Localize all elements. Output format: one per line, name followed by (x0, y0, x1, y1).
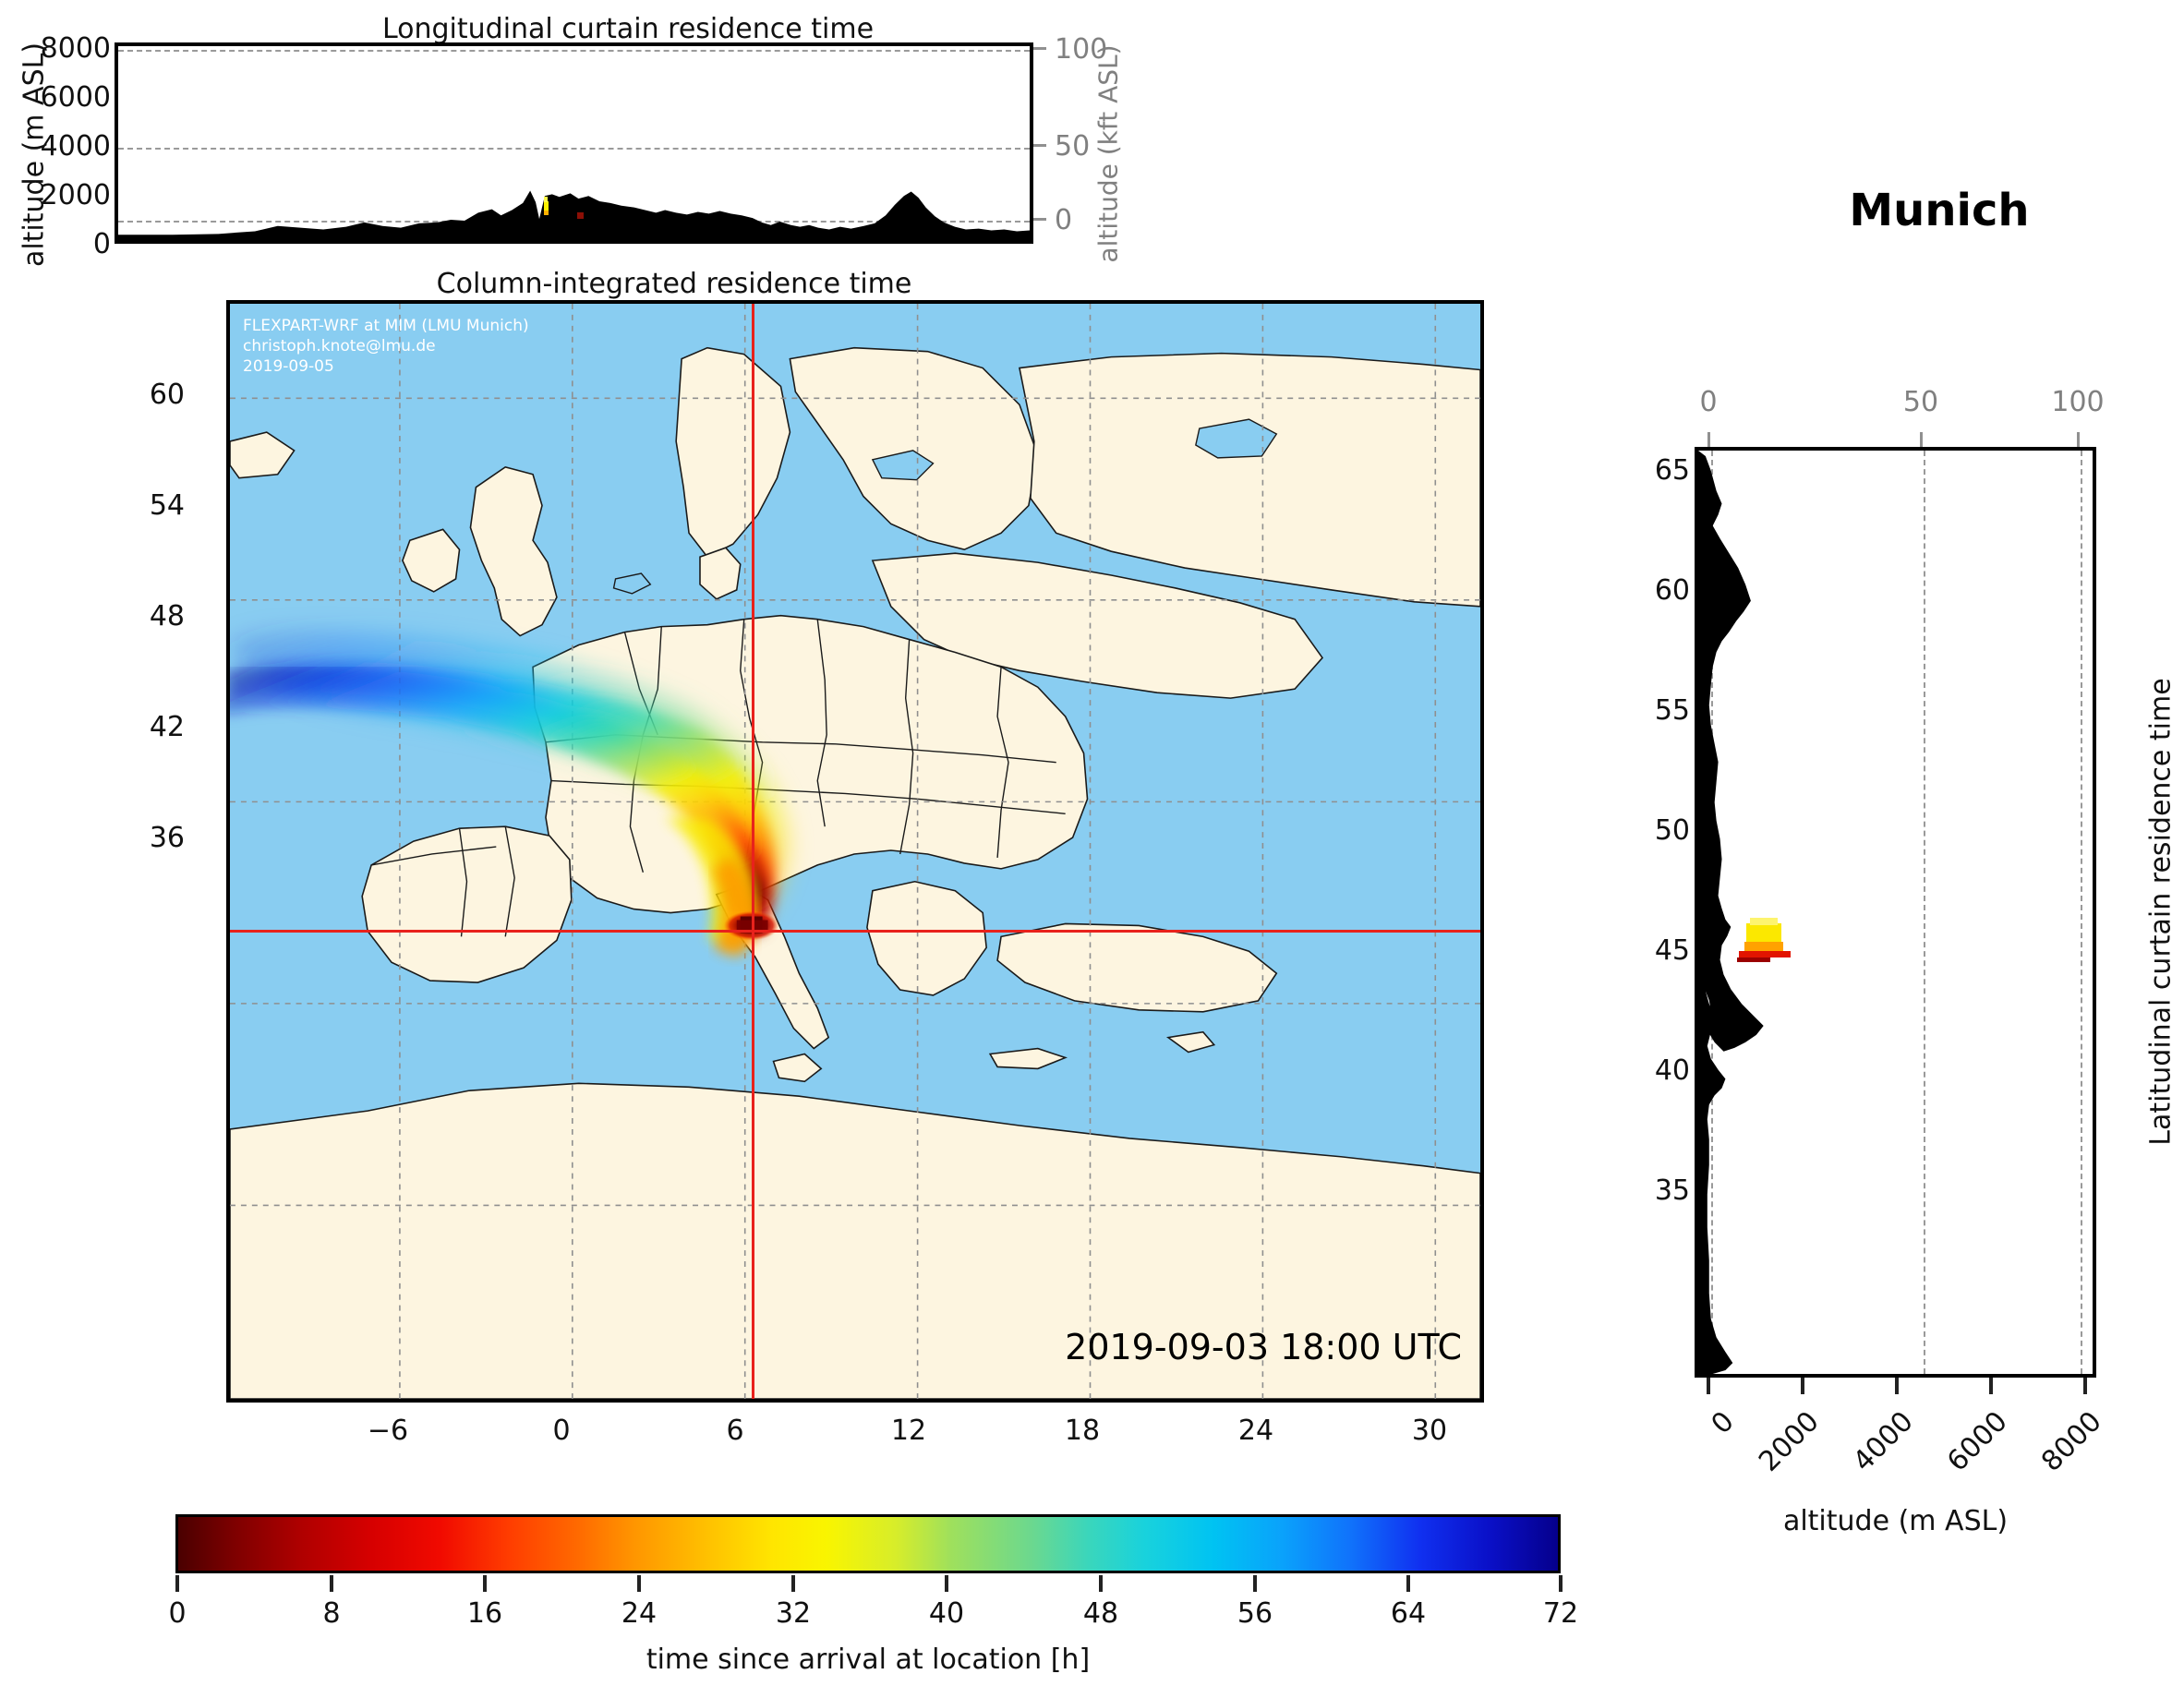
right-ytick-45: 45 (1625, 934, 1690, 967)
map-xtick-24: 24 (1224, 1415, 1288, 1447)
right-ytick-55: 55 (1625, 694, 1690, 727)
top-panel-ylabel-right: altitude (kft ASL) (993, 138, 1224, 170)
right-residence-marker-darkred (1737, 957, 1770, 962)
map-plot-area[interactable]: FLEXPART-WRF at MIM (LMU Munich) christo… (226, 300, 1484, 1403)
colorbar-label-56: 56 (1225, 1597, 1285, 1630)
right-bottom-tick-6000 (1989, 1378, 1993, 1394)
colorbar-label-0: 0 (148, 1597, 207, 1630)
map-timestamp: 2019-09-03 18:00 UTC (1065, 1327, 1462, 1367)
right-panel: 0 50 100 65 60 55 50 45 40 35 0 2000 40 (1625, 369, 2184, 1560)
colorbar-label-72: 72 (1531, 1597, 1590, 1630)
map-xtick-18: 18 (1050, 1415, 1115, 1447)
colorbar-tick-40 (945, 1575, 948, 1592)
colorbar-gradient (175, 1514, 1561, 1573)
map-xtick-12: 12 (876, 1415, 941, 1447)
map-ytick-54: 54 (102, 489, 185, 522)
map-xtick-6: 6 (703, 1415, 767, 1447)
colorbar-axis-label: time since arrival at location [h] (175, 1644, 1561, 1676)
right-residence-marker-red (1739, 951, 1791, 957)
right-bottom-tick-0 (1707, 1378, 1710, 1394)
colorbar-tick-56 (1253, 1575, 1257, 1592)
right-bottom-tick-4000 (1895, 1378, 1899, 1394)
right-top-tick-0 (1707, 432, 1710, 447)
right-top-tick-100 (2077, 432, 2080, 447)
top-ytick-6000: 6000 (28, 81, 111, 114)
top-ytick-2000: 2000 (28, 179, 111, 211)
colorbar-label-64: 64 (1379, 1597, 1438, 1630)
receptor-crosshair-vertical (752, 304, 754, 1399)
top-terrain-silhouette (118, 46, 1030, 240)
colorbar-label-8: 8 (302, 1597, 361, 1630)
top-ytick-0: 0 (28, 228, 111, 260)
map-panel: Column-integrated residence time 60 54 4… (0, 268, 1570, 1422)
right-xtick-bottom-8000: 8000 (1973, 1405, 2085, 1438)
right-ytick-40: 40 (1625, 1054, 1690, 1087)
right-panel-xlabel: altitude (m ASL) (1695, 1505, 2096, 1537)
right-ytick-60: 60 (1625, 574, 1690, 607)
right-ytick-65: 65 (1625, 454, 1690, 487)
map-panel-title: Column-integrated residence time (166, 268, 1182, 300)
colorbar-tick-48 (1099, 1575, 1103, 1592)
top-panel-plot-area (115, 42, 1033, 244)
credit-line-3: 2019-09-05 (243, 357, 334, 378)
map-ytick-42: 42 (102, 711, 185, 743)
right-xtick-top-50: 50 (1893, 386, 1949, 418)
right-xtick-top-0: 0 (1681, 386, 1736, 418)
colorbar-tick-16 (483, 1575, 487, 1592)
map-xtick-0: 0 (529, 1415, 594, 1447)
colorbar-tick-8 (330, 1575, 333, 1592)
map-ytick-36: 36 (102, 822, 185, 854)
right-ytick-35: 35 (1625, 1174, 1690, 1207)
top-ytick-4000: 4000 (28, 130, 111, 163)
right-xtick-top-100: 100 (2041, 386, 2115, 418)
colorbar-tick-0 (175, 1575, 179, 1592)
colorbar-tick-72 (1559, 1575, 1563, 1592)
colorbar-tick-24 (637, 1575, 641, 1592)
credit-line-1: FLEXPART-WRF at MIM (LMU Munich) (243, 317, 529, 337)
right-bottom-tick-2000 (1801, 1378, 1804, 1394)
map-xtick-30: 30 (1397, 1415, 1462, 1447)
right-panel-axis-label: Latitudinal curtain residence time (1884, 896, 2184, 929)
map-xtick-neg6: −6 (356, 1415, 420, 1447)
right-residence-marker-yellow (1746, 923, 1781, 944)
top-residence-marker-darkred (577, 212, 584, 219)
map-ytick-60: 60 (102, 379, 185, 411)
right-residence-marker-yellow-light (1750, 918, 1778, 925)
residence-time-plume (230, 304, 1480, 1399)
map-ytick-48: 48 (102, 600, 185, 632)
location-title: Munich (1755, 185, 2124, 236)
colorbar-tick-32 (791, 1575, 795, 1592)
right-top-tick-50 (1920, 432, 1923, 447)
credit-line-2: christoph.knote@lmu.de (243, 337, 436, 357)
right-residence-marker-orange (1744, 942, 1783, 951)
colorbar-label-40: 40 (917, 1597, 976, 1630)
top-residence-marker-orange (544, 211, 549, 215)
top-right-tick-100 (1033, 47, 1046, 50)
colorbar-label-16: 16 (455, 1597, 514, 1630)
top-panel-title: Longitudinal curtain residence time (166, 13, 1090, 45)
right-ytick-50: 50 (1625, 814, 1690, 847)
colorbar-tick-64 (1406, 1575, 1410, 1592)
receptor-crosshair-horizontal (230, 930, 1480, 933)
colorbar-panel: 0 8 16 24 32 40 48 56 64 72 time since a… (0, 1477, 1570, 1690)
top-residence-marker-yellow2 (544, 197, 548, 202)
right-bottom-tick-8000 (2083, 1378, 2087, 1394)
top-right-tick-0 (1033, 218, 1046, 221)
colorbar-label-24: 24 (609, 1597, 669, 1630)
colorbar-label-32: 32 (764, 1597, 823, 1630)
top-ytick-8000: 8000 (28, 32, 111, 65)
colorbar-label-48: 48 (1071, 1597, 1130, 1630)
top-right-ytick-0: 0 (1055, 204, 1072, 236)
top-panel: Longitudinal curtain residence time alti… (0, 0, 1625, 268)
